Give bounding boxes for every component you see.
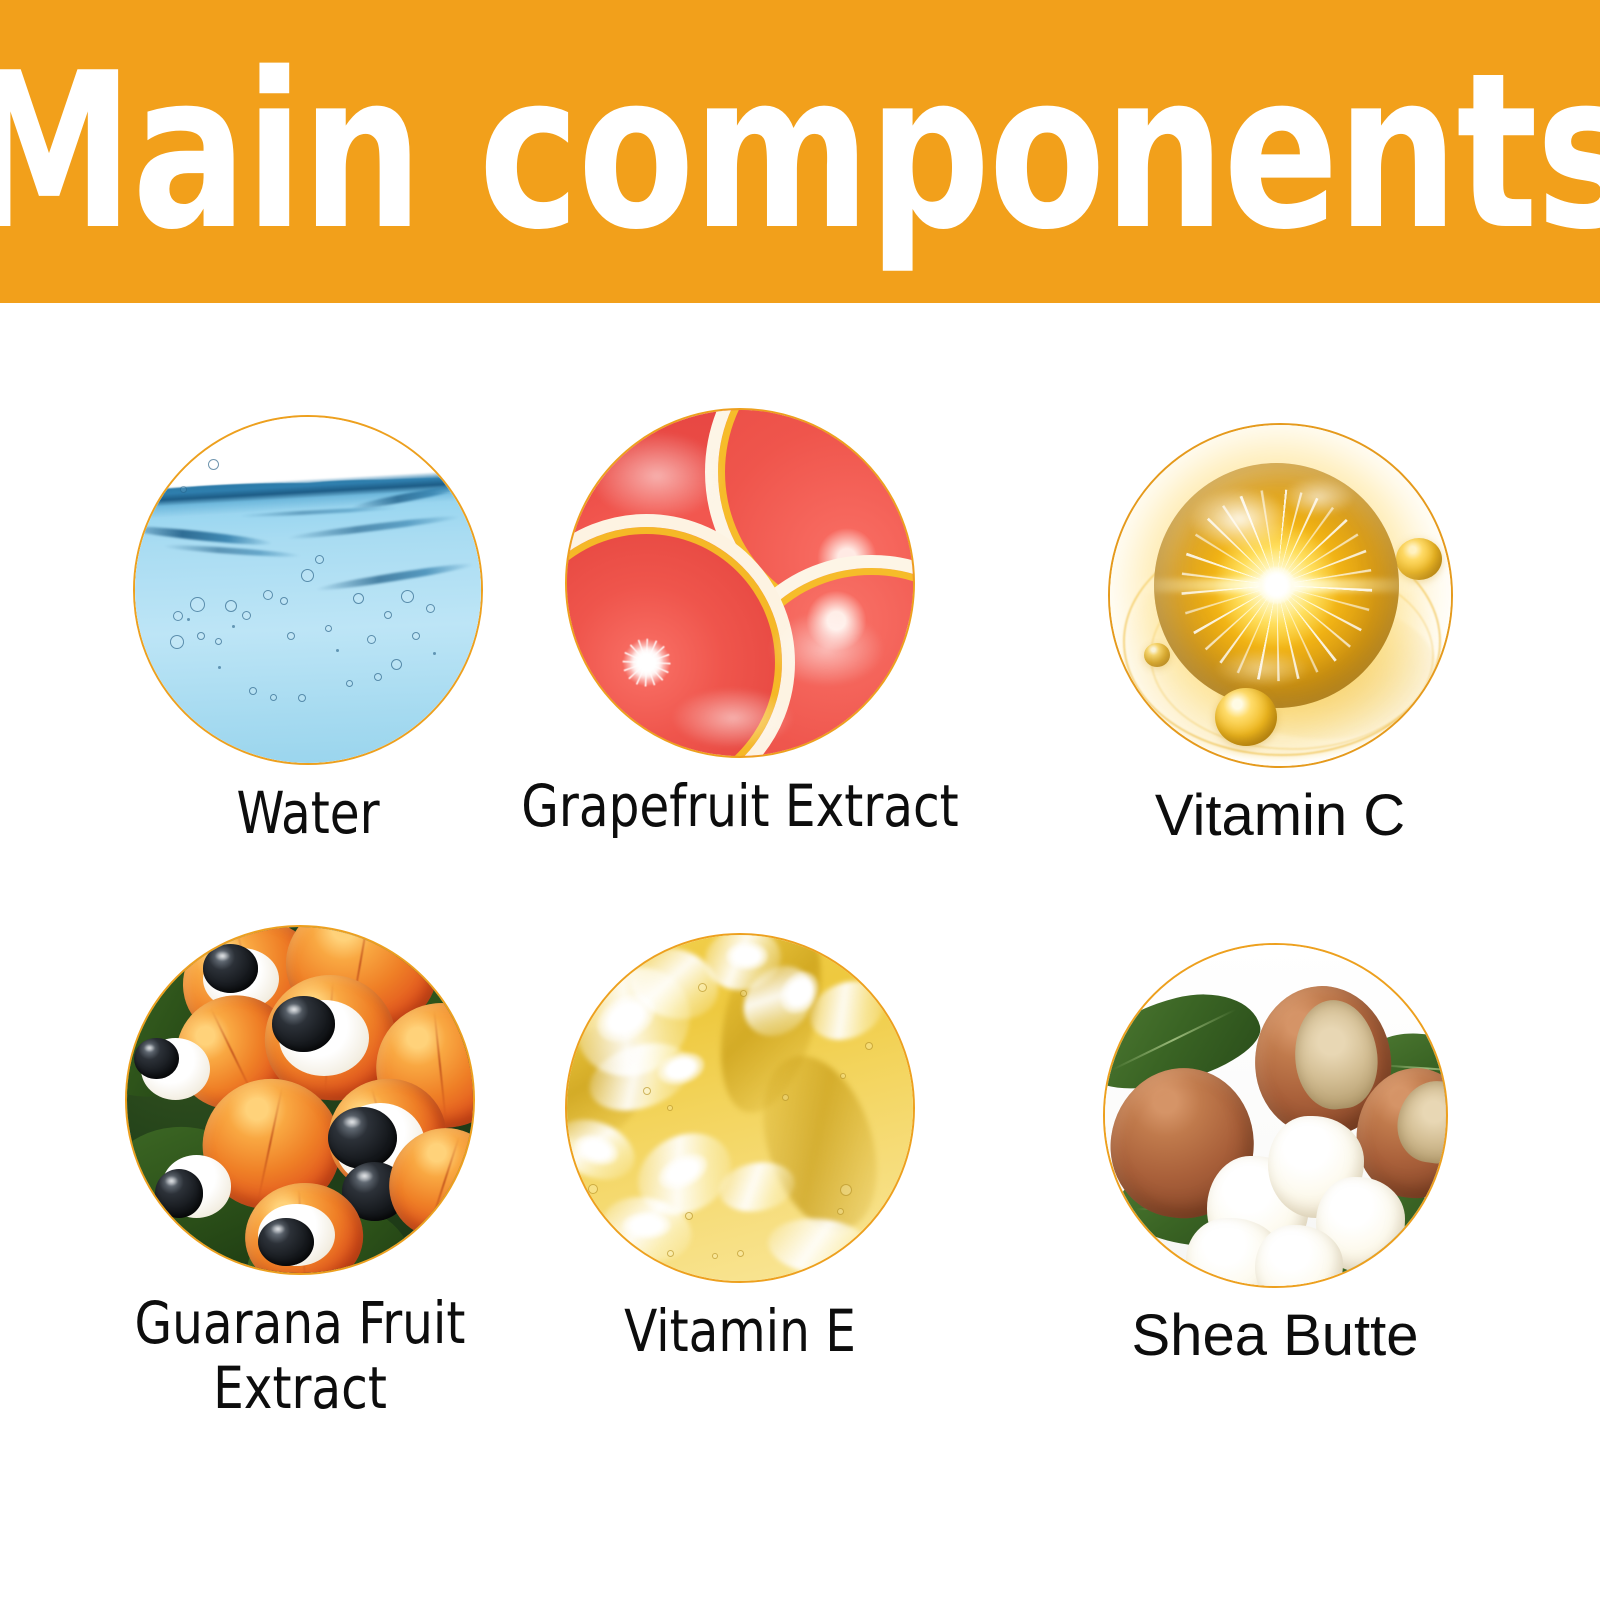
component-label-vitamin-c: Vitamin C <box>1040 784 1520 849</box>
component-label-vitamin-e: Vitamin E <box>517 1299 963 1364</box>
vitamin-c-image-circle <box>1108 423 1453 768</box>
component-card-water[interactable]: Water <box>68 415 548 846</box>
component-card-guarana[interactable]: Guarana Fruit Extract <box>60 925 540 1421</box>
shea-nuts-butter-icon <box>1105 945 1446 1286</box>
component-label-shea-butter: Shea Butte <box>1035 1304 1515 1369</box>
golden-droplet-icon <box>1110 425 1451 766</box>
guarana-image-circle <box>125 925 475 1275</box>
vitamin-e-image-circle <box>565 933 915 1283</box>
shea-butter-image-circle <box>1103 943 1448 1288</box>
grapefruit-image-circle <box>565 408 915 758</box>
vitamin-e-circle-wrap <box>565 933 915 1283</box>
page-title: Main components <box>96 0 1504 303</box>
component-label-water: Water <box>85 781 531 846</box>
component-card-shea-butter[interactable]: Shea Butte <box>1035 943 1515 1369</box>
grapefruit-slices-icon <box>567 410 913 756</box>
vitamin-c-circle-wrap <box>1108 423 1453 768</box>
guarana-fruit-icon <box>127 927 473 1273</box>
component-label-grapefruit: Grapefruit Extract <box>517 774 963 839</box>
component-card-vitamin-e[interactable]: Vitamin E <box>500 933 980 1364</box>
component-card-vitamin-c[interactable]: Vitamin C <box>1040 423 1520 849</box>
water-splash-icon <box>135 417 481 763</box>
header-band: Main components <box>0 0 1600 303</box>
guarana-circle-wrap <box>125 925 475 1275</box>
grapefruit-circle-wrap <box>565 408 915 758</box>
golden-oil-icon <box>567 935 913 1281</box>
component-card-grapefruit[interactable]: Grapefruit Extract <box>500 408 980 839</box>
components-grid: Water Grapefruit Extract <box>0 303 1600 1600</box>
component-label-guarana: Guarana Fruit Extract <box>77 1291 523 1421</box>
shea-butter-circle-wrap <box>1103 943 1448 1288</box>
water-circle-wrap <box>133 415 483 765</box>
water-image-circle <box>133 415 483 765</box>
